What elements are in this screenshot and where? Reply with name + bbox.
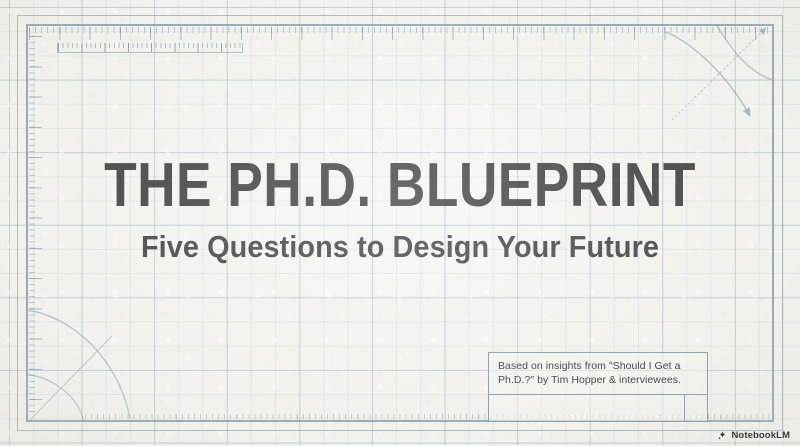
page-title: THE PH.D. BLUEPRINT (56, 155, 744, 217)
title-block-field-wide (489, 395, 685, 421)
title-block-credit-row: Based on insights from "Should I Get a P… (489, 353, 707, 395)
ruler-ticks-top-major (29, 27, 771, 40)
drafting-ruler-icon (57, 43, 243, 53)
credit-text: Based on insights from "Should I Get a P… (498, 359, 699, 388)
title-area: THE PH.D. BLUEPRINT Five Questions to De… (0, 155, 800, 264)
drafting-ruler-major-ticks (58, 43, 242, 52)
page-subtitle: Five Questions to Design Your Future (28, 231, 772, 264)
notebooklm-logo-icon (717, 430, 728, 441)
watermark: NotebookLM (717, 430, 790, 441)
slide-canvas: THE PH.D. BLUEPRINT Five Questions to De… (0, 0, 800, 446)
title-block: Based on insights from "Should I Get a P… (488, 352, 708, 422)
title-block-fields-row (489, 395, 707, 421)
watermark-label: NotebookLM (731, 430, 790, 441)
title-block-field-narrow (685, 395, 707, 421)
